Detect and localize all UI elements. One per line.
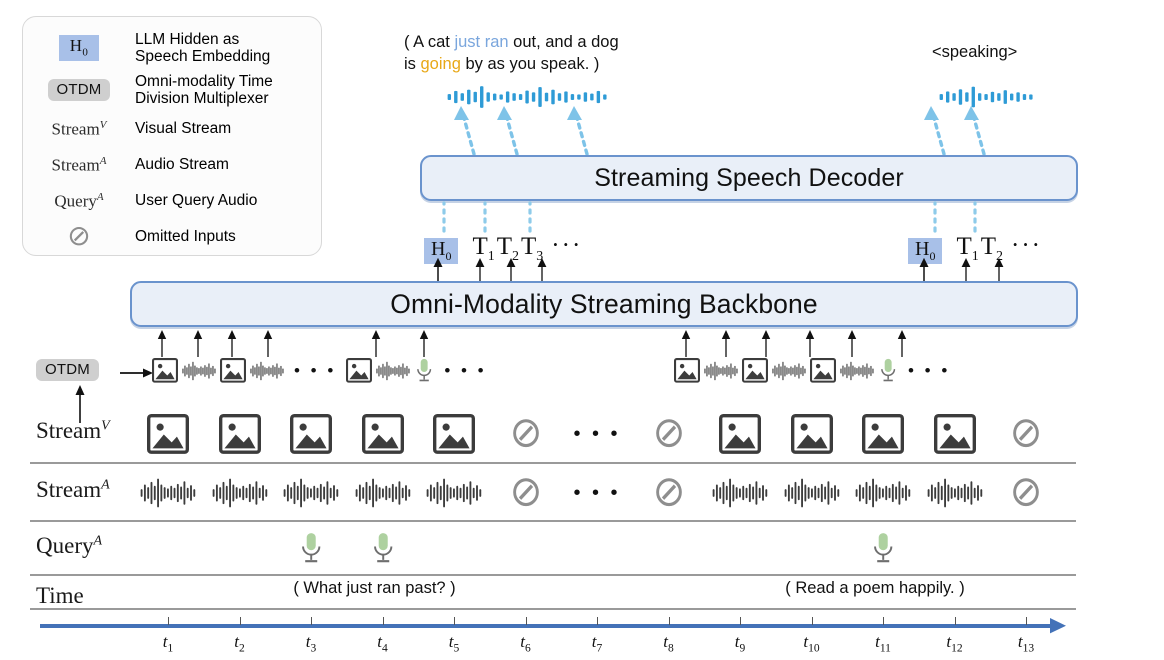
tick-label-t11: t11 — [875, 632, 891, 654]
up-arrow — [682, 330, 690, 357]
cell-stream_v-t4 — [362, 404, 404, 464]
otdm-audio-token — [182, 360, 216, 382]
image-icon — [290, 414, 332, 454]
tick-t3 — [311, 617, 312, 625]
image-icon — [742, 358, 768, 383]
cell-stream_a-t11 — [855, 464, 911, 522]
row-stream_v: StreamV⊘• • •⊘⊘ — [0, 404, 1164, 464]
tick-t4 — [383, 617, 384, 625]
cell-stream_a-t1 — [140, 464, 196, 522]
up-arrow — [995, 258, 1004, 282]
legend-item-4: StreamAAudio Stream — [23, 147, 321, 183]
dotted-arrow — [924, 106, 944, 154]
generated-caption-left: ( A cat just ran out, and a dogis going … — [404, 32, 704, 76]
tick-t12 — [955, 617, 956, 625]
audio-waveform-icon — [182, 360, 216, 382]
otdm-badge: OTDM — [36, 361, 99, 379]
microphone-icon — [298, 532, 324, 565]
up-arrow — [507, 258, 516, 282]
audio-waveform-icon — [772, 360, 806, 382]
omitted-input-icon: ⊘ — [1010, 413, 1043, 456]
image-icon — [362, 414, 404, 454]
omitted-input-icon: ⊘ — [652, 472, 685, 515]
legend-label: Visual Stream — [135, 120, 231, 137]
up-arrow — [194, 330, 202, 357]
tick-label-t5: t5 — [449, 632, 459, 654]
image-icon — [152, 358, 178, 383]
legend-item-2: OTDMOmni-modality TimeDivision Multiplex… — [23, 69, 321, 111]
image-icon — [220, 358, 246, 383]
backbone-title: Omni-Modality Streaming Backbone — [390, 289, 817, 320]
omitted-input-icon: ⊘ — [1010, 472, 1043, 515]
cell-stream_a-t8: ⊘ — [654, 464, 683, 522]
row-label-stream_a: StreamA — [36, 477, 110, 503]
tick-t6 — [526, 617, 527, 625]
token-to-decoder-links — [430, 201, 1030, 233]
omitted-input-icon: ⊘ — [509, 413, 542, 456]
audio-waveform-icon — [355, 476, 411, 510]
caption-segment: is — [404, 55, 421, 73]
image-icon — [674, 358, 700, 383]
cell-stream_v-t1 — [147, 404, 189, 464]
audio-waveform-icon — [927, 476, 983, 510]
legend-symbol: QueryA — [23, 191, 135, 212]
tick-label-t13: t13 — [1018, 632, 1034, 654]
cell-stream_v-t12 — [934, 404, 976, 464]
legend-symbol: OTDM — [23, 79, 135, 101]
up-arrow — [538, 258, 547, 282]
otdm-image-token — [674, 358, 700, 383]
tick-label-t9: t9 — [735, 632, 745, 654]
cell-stream_a-t9 — [712, 464, 768, 522]
omni-modality-streaming-backbone: Omni-Modality Streaming Backbone — [130, 281, 1078, 327]
cell-stream_v-t9 — [719, 404, 761, 464]
image-icon — [219, 414, 261, 454]
microphone-icon — [370, 532, 396, 565]
legend-symbol: ⊘ — [23, 223, 135, 251]
up-arrow — [848, 330, 856, 357]
audio-waveform-icon — [283, 476, 339, 510]
cell-stream_v-t10 — [791, 404, 833, 464]
row-separator — [30, 574, 1076, 576]
audio-waveform-icon — [855, 476, 911, 510]
tick-label-t7: t7 — [592, 632, 602, 654]
otdm-sequence-left: • • •• • • — [152, 358, 493, 384]
image-icon — [862, 414, 904, 454]
up-arrow — [372, 330, 380, 357]
tick-label-t10: t10 — [803, 632, 819, 654]
legend-label: Omni-modality TimeDivision Multiplexer — [135, 73, 273, 108]
cell-stream_v-t3 — [290, 404, 332, 464]
legend-label: Audio Stream — [135, 156, 229, 173]
omitted-input-icon: ⊘ — [652, 413, 685, 456]
legend-label: LLM Hidden asSpeech Embedding — [135, 31, 270, 66]
math-symbol: QueryA — [54, 191, 103, 212]
omitted-input-icon: ⊘ — [67, 223, 90, 251]
tick-t5 — [454, 617, 455, 625]
image-icon — [810, 358, 836, 383]
time-row-separator — [30, 608, 1076, 610]
tick-label-t4: t4 — [377, 632, 387, 654]
cell-stream_v-t6: ⊘ — [511, 404, 540, 464]
decoder-title: Streaming Speech Decoder — [594, 164, 904, 193]
query-transcript-1: ( What just ran past? ) — [293, 578, 455, 600]
cell-stream_v-t13: ⊘ — [1012, 404, 1041, 464]
cell-stream_a-t12 — [927, 464, 983, 522]
image-icon — [934, 414, 976, 454]
up-arrow — [476, 258, 485, 282]
token-ellipsis: ··· — [1011, 232, 1042, 260]
decoder-output-arrows — [430, 104, 1030, 160]
tick-t13 — [1026, 617, 1027, 625]
legend-label: Omitted Inputs — [135, 228, 236, 245]
tick-label-t1: t1 — [163, 632, 173, 654]
audio-waveform-icon — [140, 476, 196, 510]
caption-segment: out, and a dog — [509, 33, 619, 51]
tick-t8 — [669, 617, 670, 625]
cell-stream_v-t2 — [219, 404, 261, 464]
caption-segment: just ran — [454, 33, 508, 51]
audio-waveform-icon — [212, 476, 268, 510]
otdm-audio-token — [772, 360, 806, 382]
otdm-image-token — [152, 358, 178, 383]
cell-stream_v-t8: ⊘ — [654, 404, 683, 464]
audio-waveform-icon — [840, 360, 874, 382]
math-symbol: StreamV — [52, 119, 107, 140]
otdm-audio-token — [840, 360, 874, 382]
cell-query_a-t3 — [298, 522, 324, 576]
dotted-arrow — [964, 106, 984, 154]
time-axis: t1t2t3t4t5t6t7t8t9t10t11t12t13 — [40, 614, 1100, 658]
otdm-output-arrow — [120, 362, 154, 384]
otdm-sequence-right: • • • — [674, 358, 956, 384]
ellipsis-icon: • • • — [444, 361, 486, 381]
audio-waveform-icon — [704, 360, 738, 382]
up-arrow — [722, 330, 730, 357]
cell-stream_a-t2 — [212, 464, 268, 522]
tick-label-t12: t12 — [946, 632, 962, 654]
audio-waveform-icon — [784, 476, 840, 510]
cell-query_a-t4 — [370, 522, 396, 576]
image-icon — [719, 414, 761, 454]
cell-stream_a-t6: ⊘ — [511, 464, 540, 522]
axis-line — [40, 624, 1052, 628]
time-row-label: Time — [36, 583, 84, 609]
otdm-image-token — [742, 358, 768, 383]
math-symbol: StreamA — [52, 155, 107, 176]
tick-t11 — [883, 617, 884, 625]
legend-symbol: StreamA — [23, 155, 135, 176]
up-arrow — [762, 330, 770, 357]
legend-item-1: H0LLM Hidden asSpeech Embedding — [23, 27, 321, 69]
up-arrow — [158, 330, 166, 357]
cell-stream_a-t7: • • • — [573, 464, 620, 522]
axis-arrow — [1048, 617, 1070, 635]
caption-line: is going by as you speak. ) — [404, 54, 704, 76]
image-icon — [147, 414, 189, 454]
audio-waveform-icon — [712, 476, 768, 510]
image-icon — [346, 358, 372, 383]
ellipsis-icon: • • • — [573, 482, 620, 505]
ellipsis-icon: • • • — [573, 423, 620, 446]
up-arrow — [264, 330, 272, 357]
otdm-mic-token — [878, 358, 898, 384]
token-ellipsis: ··· — [551, 232, 582, 260]
up-arrow — [228, 330, 236, 357]
otdm-audio-token — [704, 360, 738, 382]
cell-query_a-t11 — [870, 522, 896, 576]
legend-item-3: StreamVVisual Stream — [23, 111, 321, 147]
row-label-query_a: QueryA — [36, 533, 102, 559]
audio-waveform-icon — [376, 360, 410, 382]
caption-segment: by as you speak. ) — [461, 55, 600, 73]
otdm-image-token — [810, 358, 836, 383]
cell-stream_v-t7: • • • — [573, 404, 620, 464]
query-transcript-2: ( Read a poem happily. ) — [785, 578, 964, 600]
up-arrow — [420, 330, 428, 357]
tick-label-t6: t6 — [520, 632, 530, 654]
tick-t10 — [812, 617, 813, 625]
otdm-to-backbone-arrows — [140, 330, 1060, 360]
row-label-stream_v: StreamV — [36, 418, 110, 444]
cell-stream_a-t4 — [355, 464, 411, 522]
cell-stream_v-t5 — [433, 404, 475, 464]
microphone-icon — [414, 358, 434, 384]
image-icon — [791, 414, 833, 454]
ellipsis-icon: • • • — [908, 361, 950, 381]
tick-t9 — [740, 617, 741, 625]
legend-item-6: ⊘Omitted Inputs — [23, 219, 321, 255]
row-query_a: QueryA — [0, 522, 1164, 576]
tick-label-t3: t3 — [306, 632, 316, 654]
legend-symbol: H0 — [23, 35, 135, 60]
otdm-ellipsis: • • • — [908, 361, 950, 381]
caption-line: ( A cat just ran out, and a dog — [404, 32, 704, 54]
cell-stream_a-t3 — [283, 464, 339, 522]
legend-item-5: QueryAUser Query Audio — [23, 183, 321, 219]
otdm-ellipsis: • • • — [294, 361, 336, 381]
up-arrow — [898, 330, 906, 357]
speaking-tag: <speaking> — [932, 42, 1017, 64]
row-stream_a: StreamA⊘• • •⊘⊘ — [0, 464, 1164, 522]
cell-stream_a-t5 — [426, 464, 482, 522]
otdm-image-token — [346, 358, 372, 383]
tick-t1 — [168, 617, 169, 625]
caption-segment: ( A cat — [404, 33, 454, 51]
legend-symbol: StreamV — [23, 119, 135, 140]
otdm-audio-token — [376, 360, 410, 382]
cell-stream_a-t10 — [784, 464, 840, 522]
otdm-image-token — [220, 358, 246, 383]
dotted-arrow — [497, 106, 517, 154]
legend-label: User Query Audio — [135, 192, 257, 209]
cell-stream_v-t11 — [862, 404, 904, 464]
otdm-audio-token — [250, 360, 284, 382]
up-arrow — [962, 258, 971, 282]
cell-stream_a-t13: ⊘ — [1012, 464, 1041, 522]
dotted-arrow — [454, 106, 474, 154]
audio-waveform-icon — [250, 360, 284, 382]
microphone-icon — [870, 532, 896, 565]
legend-panel: H0LLM Hidden asSpeech EmbeddingOTDMOmni-… — [22, 16, 322, 256]
tick-label-t2: t2 — [234, 632, 244, 654]
microphone-icon — [878, 358, 898, 384]
caption-segment: going — [421, 55, 461, 73]
omitted-input-icon: ⊘ — [509, 472, 542, 515]
tick-t7 — [597, 617, 598, 625]
h0-chip: H0 — [59, 35, 99, 60]
audio-waveform-icon — [426, 476, 482, 510]
otdm-mic-token — [414, 358, 434, 384]
image-icon — [433, 414, 475, 454]
dotted-arrow — [567, 106, 587, 154]
ellipsis-icon: • • • — [294, 361, 336, 381]
streaming-speech-decoder: Streaming Speech Decoder — [420, 155, 1078, 201]
tick-label-t8: t8 — [663, 632, 673, 654]
otdm-ellipsis: • • • — [444, 361, 486, 381]
otdm-chip: OTDM — [48, 79, 111, 101]
up-arrow — [806, 330, 814, 357]
tick-t2 — [240, 617, 241, 625]
